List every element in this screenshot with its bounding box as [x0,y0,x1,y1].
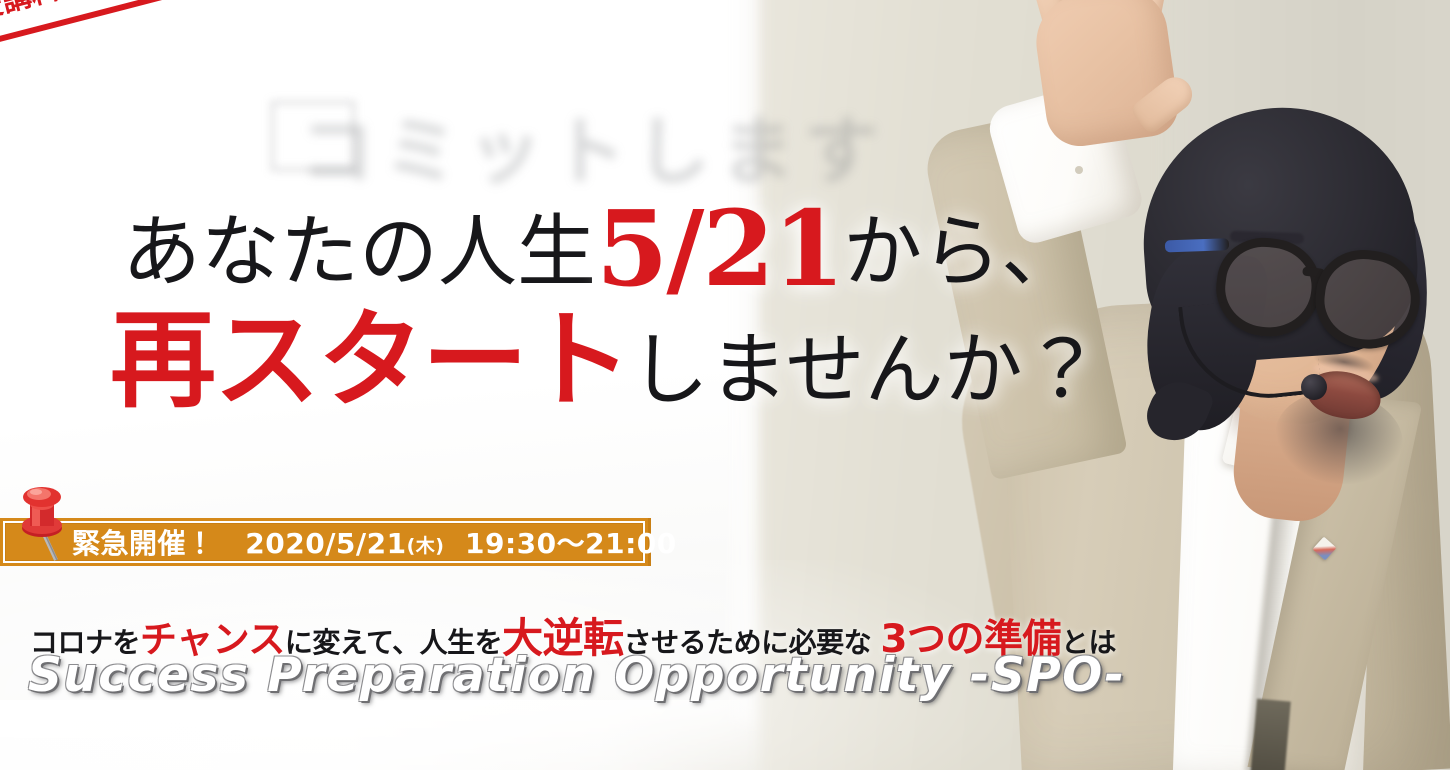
event-date: 2020/5/21 [245,527,406,560]
ribbon-white-band [0,0,560,80]
headline-suffix: から、 [843,206,1080,298]
headline-line-1: あなたの人生5/21から、 [122,196,982,302]
event-date-text: 緊急開催！ 2020/5/21(木) 19:30〜21:00 [72,522,677,562]
event-weekday: (木) [407,535,445,557]
event-time: 19:30〜21:00 [465,527,677,560]
pushpin-icon [16,482,70,562]
headline-restart: 再スタート [110,297,630,422]
headline-prefix: あなたの人生 [122,206,596,298]
necktie [1249,699,1291,770]
headline-date: 5/21 [596,187,843,310]
cuff-button [1075,166,1083,174]
urgent-label: 緊急開催！ [72,527,215,560]
headline-line-2: 再スタートしませんか？ [110,306,982,414]
event-date-bar: 緊急開催！ 2020/5/21(木) 19:30〜21:00 [0,518,651,566]
tagline: Success Preparation Opportunity -SPO- [28,648,1126,703]
main-headline: あなたの人生5/21から、 再スタートしませんか？ [122,196,982,414]
headline-question: しませんか？ [630,324,1102,416]
glasses-temple [1165,238,1229,252]
headset-mic-capsule [1301,374,1327,400]
seminar-banner: コミットします [0,0,1450,770]
price-ribbon-inner: オンライン配信 受講料：5,000円 無料 [0,0,560,91]
